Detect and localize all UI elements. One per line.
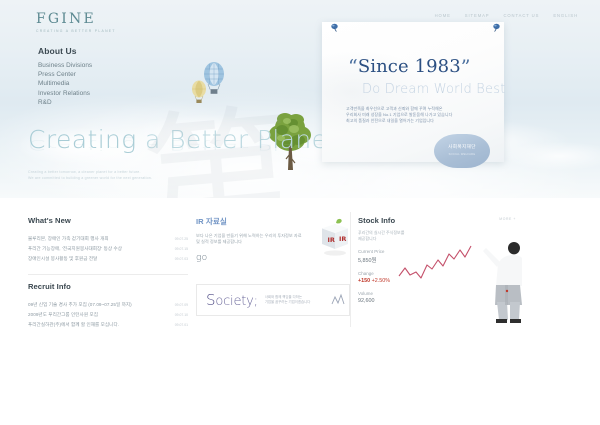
badge-sublabel: SOCIAL WELFARE xyxy=(434,153,490,156)
list-item[interactable]: 불루리본, 장애인 가족 걷기대회 행사 개최 09.07.25 xyxy=(28,234,188,244)
ir-section: IR 자료실 보다 나은 기업을 만들기 위해 노력하는 우리의 투자정보 자료… xyxy=(196,216,348,263)
logo[interactable]: FGINE CREATING A BETTER PLANET xyxy=(36,12,116,33)
list-item[interactable]: 푸리간실하관(주)에서 함께 할 인재를 모십니다. 09.07.01 xyxy=(28,320,188,330)
banner-since-label: Since 1983 xyxy=(358,56,461,77)
svg-text:IR: IR xyxy=(339,235,346,243)
ir-cube-icon: IR IR xyxy=(318,218,352,263)
lower-content: What's New 불루리본, 장애인 가족 걷기대회 행사 개최 09.07… xyxy=(0,198,600,425)
svg-text:IR: IR xyxy=(328,236,335,244)
recruit-title: 09년 신입 기술 경사 추가 모집 (07.09~07.25일 까지) xyxy=(28,300,132,310)
list-item[interactable]: 푸리간 기능장애, '전국지원봉사대회장' 동상 수상 09.07.15 xyxy=(28,244,188,254)
whats-new-section: What's New 불루리본, 장애인 가족 걷기대회 행사 개최 09.07… xyxy=(28,216,188,264)
banner-slogan: Do Dream World Best xyxy=(362,82,506,97)
section-title-whats-new: What's New xyxy=(28,216,188,225)
nav-item-english[interactable]: ENGLISH xyxy=(553,13,578,18)
welfare-foundation-badge[interactable]: 사회복지재단 SOCIAL WELFARE xyxy=(434,134,490,168)
society-subtext-line-2: 기업을 꿈꾸려는 기업이겠습니다 xyxy=(265,300,311,305)
quote-close: ” xyxy=(461,56,471,78)
society-initial: S xyxy=(206,291,215,309)
banner-body-line-3: 최고의 품질과 안전으로 내일을 열어가는 기업입니다 xyxy=(346,118,492,124)
section-title-recruit-info: Recruit Info xyxy=(28,282,188,291)
list-item[interactable]: 09년 신입 기술 경사 추가 모집 (07.09~07.25일 까지) 09.… xyxy=(28,300,188,310)
stock-more-link[interactable]: MORE + xyxy=(499,217,516,221)
society-chart-mark-icon xyxy=(331,293,345,307)
nav-item-home[interactable]: HOME xyxy=(435,13,451,18)
recruit-list: 09년 신입 기술 경사 추가 모집 (07.09~07.25일 까지) 09.… xyxy=(28,300,188,330)
section-title-stock-info: Stock Info xyxy=(358,216,516,225)
ir-description: 보다 나은 기업을 만들기 위해 노력하는 우리의 투자정보 자료 및 실적 정… xyxy=(196,233,304,246)
society-banner[interactable]: Society; 사회와 함께 책임을 다하는 기업을 꿈꾸려는 기업이겠습니다 xyxy=(196,284,350,316)
news-title: 장애인시설 봉사활동 및 후원금 전달 xyxy=(28,254,97,264)
stock-change-percent: +2.50% xyxy=(372,278,390,284)
badge-label: 사회복지재단 xyxy=(434,144,490,150)
banner-since-text: “Since 1983” xyxy=(348,56,471,78)
logo-tagline: CREATING A BETTER PLANET xyxy=(36,29,116,33)
stock-line-chart-icon xyxy=(398,240,484,293)
page-root: FGINE CREATING A BETTER PLANET HOME SITE… xyxy=(0,0,600,425)
hot-air-balloon-blue-icon xyxy=(203,62,225,103)
recruit-date: 09.07.01 xyxy=(171,320,188,330)
recruit-date: 09.07.09 xyxy=(171,300,188,310)
news-title: 푸리간 기능장애, '전국지원봉사대회장' 동상 수상 xyxy=(28,244,122,254)
news-date: 09.07.25 xyxy=(171,234,188,244)
menu-title-about-us: About Us xyxy=(38,46,158,56)
nav-item-sitemap[interactable]: SITEMAP xyxy=(465,13,490,18)
banner-body: 고객만족을 최우선으로 고객과 신뢰와 함께 꾸며 누적해온 우리회사 미래 성… xyxy=(346,106,492,125)
businessman-illustration-icon xyxy=(480,238,522,329)
hero-section: FGINE CREATING A BETTER PLANET HOME SITE… xyxy=(0,0,600,198)
list-item[interactable]: 2009년도 푸리간그룹 인턴사원 모집 09.07.10 xyxy=(28,310,188,320)
push-pin-icon-left xyxy=(330,19,339,28)
logo-wordmark: FGINE xyxy=(36,12,116,27)
news-title: 불루리본, 장애인 가족 걷기대회 행사 개최 xyxy=(28,234,109,244)
hero-subcopy-line-2: We are committed to building a greener w… xyxy=(28,176,258,182)
recruit-date: 09.07.10 xyxy=(171,310,188,320)
society-word-rest: ociety; xyxy=(215,294,257,309)
divider-whatsnew xyxy=(28,274,188,275)
recruit-title: 푸리간실하관(주)에서 함께 할 인재를 모십니다. xyxy=(28,320,119,330)
news-date: 09.07.15 xyxy=(171,244,188,254)
hero-subcopy: Creating a better tomorrow, a cleaner pl… xyxy=(28,170,258,181)
nav-item-contact-us[interactable]: CONTACT US xyxy=(503,13,539,18)
society-wordmark: Society; xyxy=(206,291,258,309)
hero-headline-reflection: Creating a Better Planet xyxy=(28,137,338,152)
sidebar-item-multimedia[interactable]: Multimedia xyxy=(38,79,158,88)
quote-open: “ xyxy=(348,56,358,78)
sidebar-item-press-center[interactable]: Press Center xyxy=(38,70,158,79)
recruit-title: 2009년도 푸리간그룹 인턴사원 모집 xyxy=(28,310,98,320)
about-us-menu: About Us Business Divisions Press Center… xyxy=(38,46,158,107)
society-subtext: 사회와 함께 책임을 다하는 기업을 꿈꾸려는 기업이겠습니다 xyxy=(265,295,311,305)
stock-change-absolute: +150 xyxy=(358,278,370,284)
whats-new-list: 불루리본, 장애인 가족 걷기대회 행사 개최 09.07.25 푸리간 기능장… xyxy=(28,234,188,264)
stock-info-section: Stock Info MORE + 푸리간의 실시간 주식정보를 제공합니다 C… xyxy=(358,216,516,304)
push-pin-icon-right xyxy=(492,19,501,28)
sidebar-item-business-divisions[interactable]: Business Divisions xyxy=(38,61,158,70)
sidebar-item-rnd[interactable]: R&D xyxy=(38,98,158,107)
news-date: 09.07.03 xyxy=(171,254,188,264)
recruit-info-section: Recruit Info 09년 신입 기술 경사 추가 모집 (07.09~0… xyxy=(28,282,188,330)
list-item[interactable]: 장애인시설 봉사활동 및 후원금 전달 09.07.03 xyxy=(28,254,188,264)
top-navigation[interactable]: HOME SITEMAP CONTACT US ENGLISH xyxy=(435,13,578,18)
sidebar-item-investor-relations[interactable]: Investor Relations xyxy=(38,89,158,98)
